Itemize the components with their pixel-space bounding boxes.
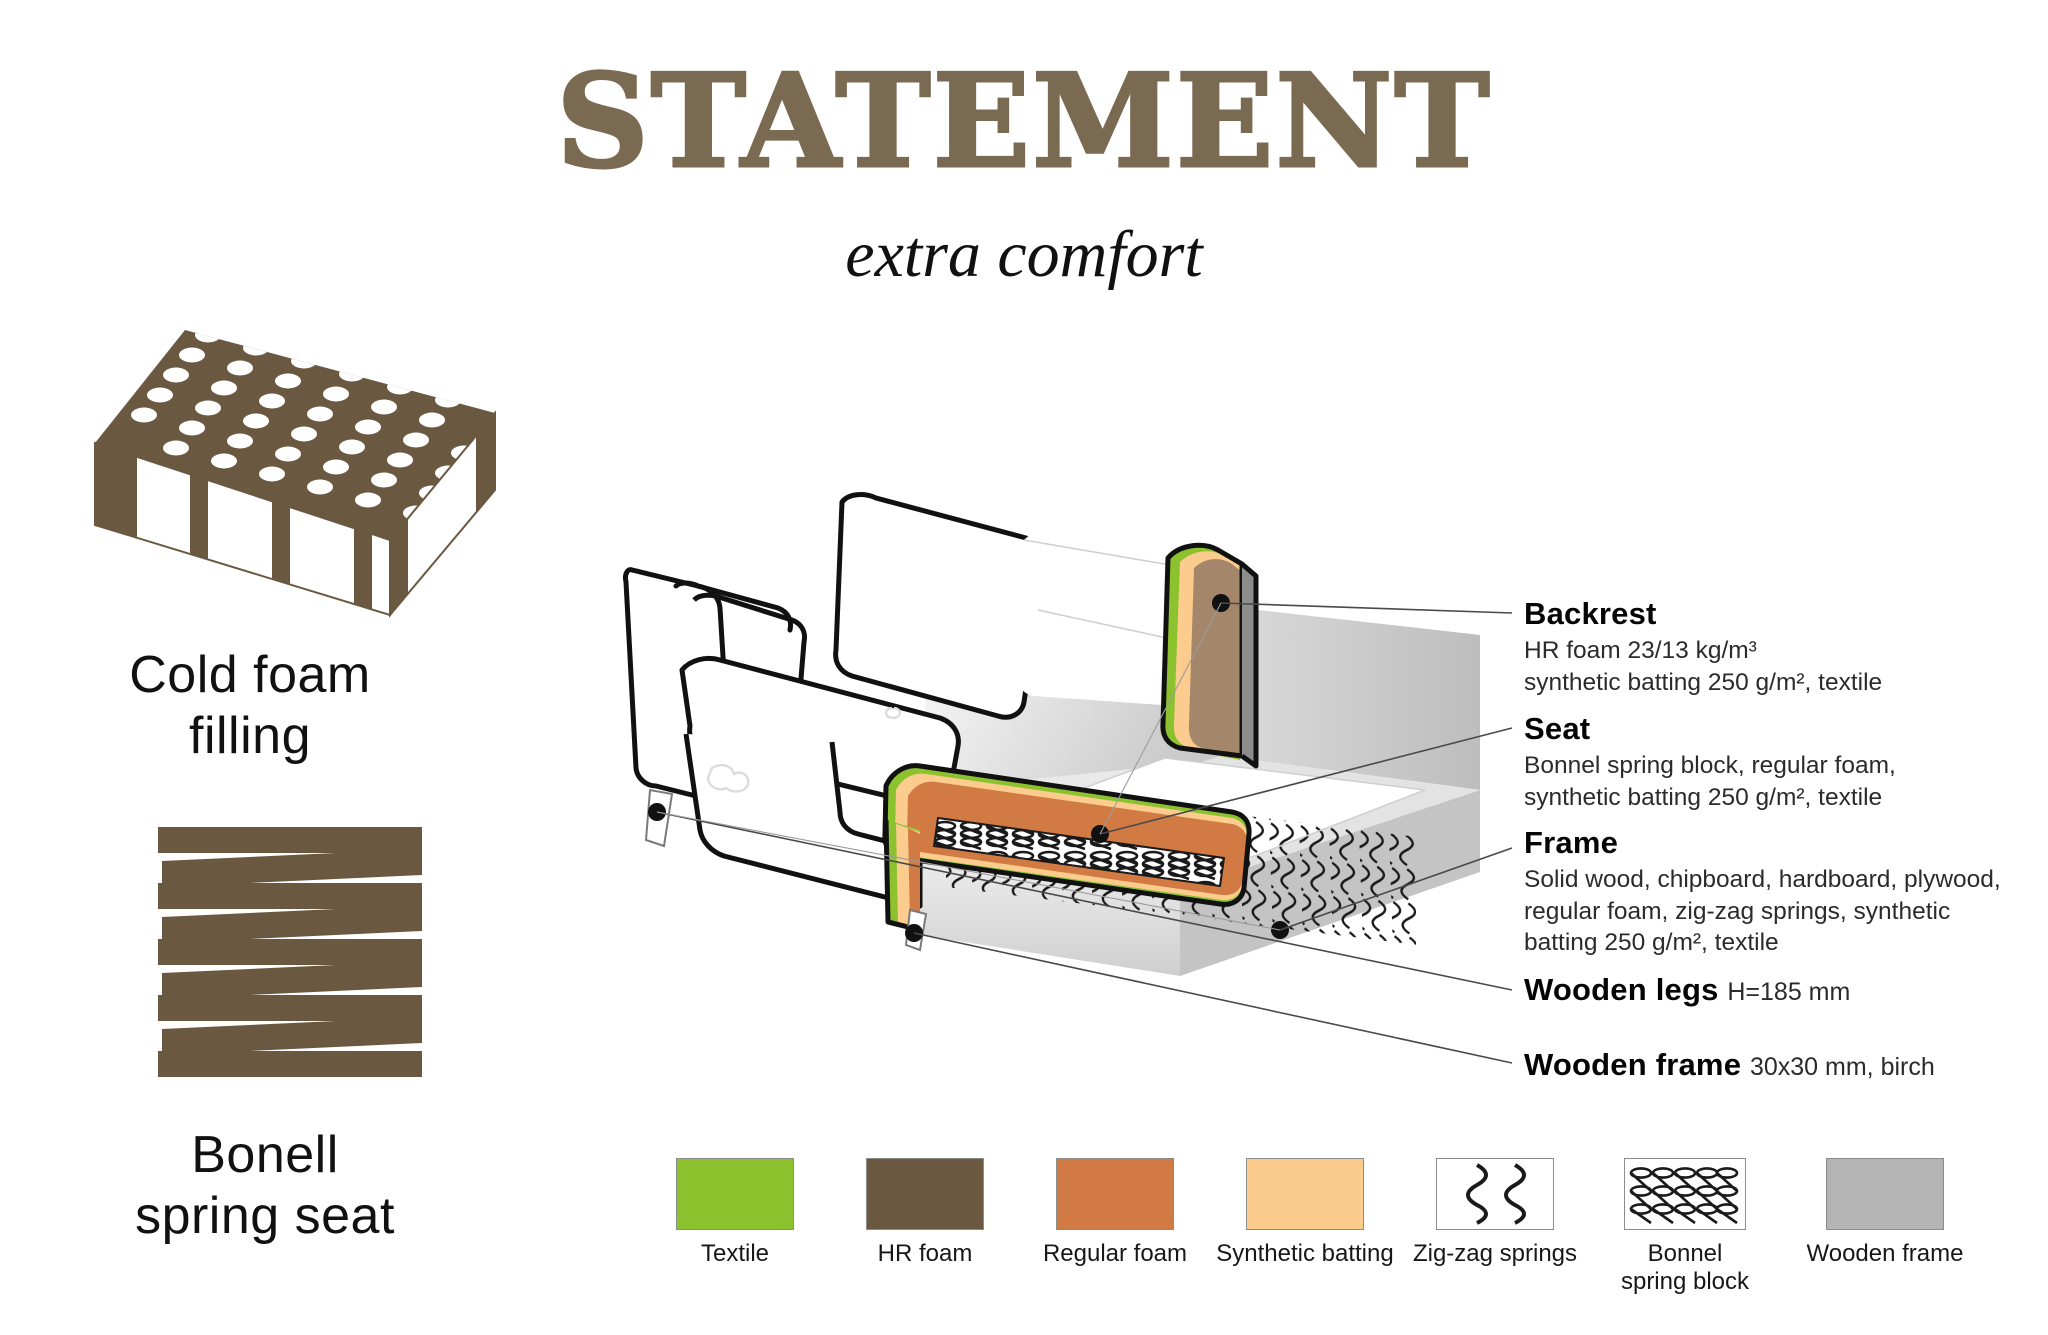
legend-item-wooden-frame: Wooden frame: [1790, 1158, 1980, 1268]
legend: Textile HR foam Regular foam Synthetic b…: [640, 1158, 2040, 1303]
callout-frame-line-2: regular foam, zig-zag springs, synthetic: [1524, 896, 2044, 928]
legend-item-hr-foam: HR foam: [830, 1158, 1020, 1268]
legend-label-hr-foam: HR foam: [830, 1240, 1020, 1268]
legend-label-bonnel-line1: Bonnel: [1590, 1240, 1780, 1268]
legend-item-regular-foam: Regular foam: [1020, 1158, 1210, 1268]
callout-seat: Seat Bonnel spring block, regular foam, …: [1524, 712, 2044, 813]
callout-frame-line-3: batting 250 g/m², textile: [1524, 927, 2044, 959]
legend-swatch-hr-foam: [866, 1158, 984, 1230]
callout-frame-line-1: Solid wood, chipboard, hardboard, plywoo…: [1524, 864, 2044, 896]
legend-label-bonnel-line2: spring block: [1590, 1268, 1780, 1296]
bonnel-spring-block-icon: [1625, 1159, 1745, 1229]
legend-swatch-wooden-frame: [1826, 1158, 1944, 1230]
infographic-canvas: STATEMENT extra comfort: [0, 0, 2048, 1335]
callout-wooden-legs-title-text: Wooden legs: [1524, 972, 1719, 1007]
legend-swatch-textile: [676, 1158, 794, 1230]
legend-item-zigzag-springs: Zig-zag springs: [1400, 1158, 1590, 1268]
legend-label-bonnel-spring-block: Bonnel spring block: [1590, 1240, 1780, 1297]
callout-frame-body: Solid wood, chipboard, hardboard, plywoo…: [1524, 864, 2044, 960]
callout-wooden-frame-spec: 30x30 mm, birch: [1750, 1053, 1935, 1081]
legend-swatch-regular-foam: [1056, 1158, 1174, 1230]
callout-backrest-line-2: synthetic batting 250 g/m², textile: [1524, 667, 2044, 699]
callout-wooden-frame: Wooden frame 30x30 mm, birch: [1524, 1048, 2044, 1086]
legend-label-zigzag-springs: Zig-zag springs: [1400, 1240, 1590, 1268]
callout-backrest-body: HR foam 23/13 kg/m³ synthetic batting 25…: [1524, 635, 2044, 699]
callout-seat-line-1: Bonnel spring block, regular foam,: [1524, 750, 2044, 782]
legend-label-synthetic-batting: Synthetic batting: [1210, 1240, 1400, 1268]
callout-seat-line-2: synthetic batting 250 g/m², textile: [1524, 782, 2044, 814]
legend-swatch-bonnel-spring-block: [1624, 1158, 1746, 1230]
legend-swatch-synthetic-batting: [1246, 1158, 1364, 1230]
callout-frame: Frame Solid wood, chipboard, hardboard, …: [1524, 826, 2044, 959]
legend-item-synthetic-batting: Synthetic batting: [1210, 1158, 1400, 1268]
legend-label-regular-foam: Regular foam: [1020, 1240, 1210, 1268]
zigzag-springs-icon: [1437, 1159, 1553, 1229]
callout-wooden-legs-spec: H=185 mm: [1727, 978, 1850, 1006]
legend-swatch-zigzag-springs: [1436, 1158, 1554, 1230]
legend-label-textile: Textile: [640, 1240, 830, 1268]
callout-backrest: Backrest HR foam 23/13 kg/m³ synthetic b…: [1524, 597, 2044, 698]
callout-backrest-line-1: HR foam 23/13 kg/m³: [1524, 635, 2044, 667]
legend-label-wooden-frame: Wooden frame: [1790, 1240, 1980, 1268]
callout-wooden-frame-title-text: Wooden frame: [1524, 1047, 1741, 1082]
legend-item-textile: Textile: [640, 1158, 830, 1268]
callout-frame-title: Frame: [1524, 826, 2044, 861]
callout-backrest-title: Backrest: [1524, 597, 2044, 632]
callout-wooden-frame-title: Wooden frame 30x30 mm, birch: [1524, 1048, 2044, 1083]
legend-item-bonnel-spring-block: Bonnel spring block: [1590, 1158, 1780, 1297]
callout-seat-body: Bonnel spring block, regular foam, synth…: [1524, 750, 2044, 814]
callout-wooden-legs-title: Wooden legs H=185 mm: [1524, 973, 2044, 1008]
callout-wooden-legs: Wooden legs H=185 mm: [1524, 973, 2044, 1011]
callout-seat-title: Seat: [1524, 712, 2044, 747]
